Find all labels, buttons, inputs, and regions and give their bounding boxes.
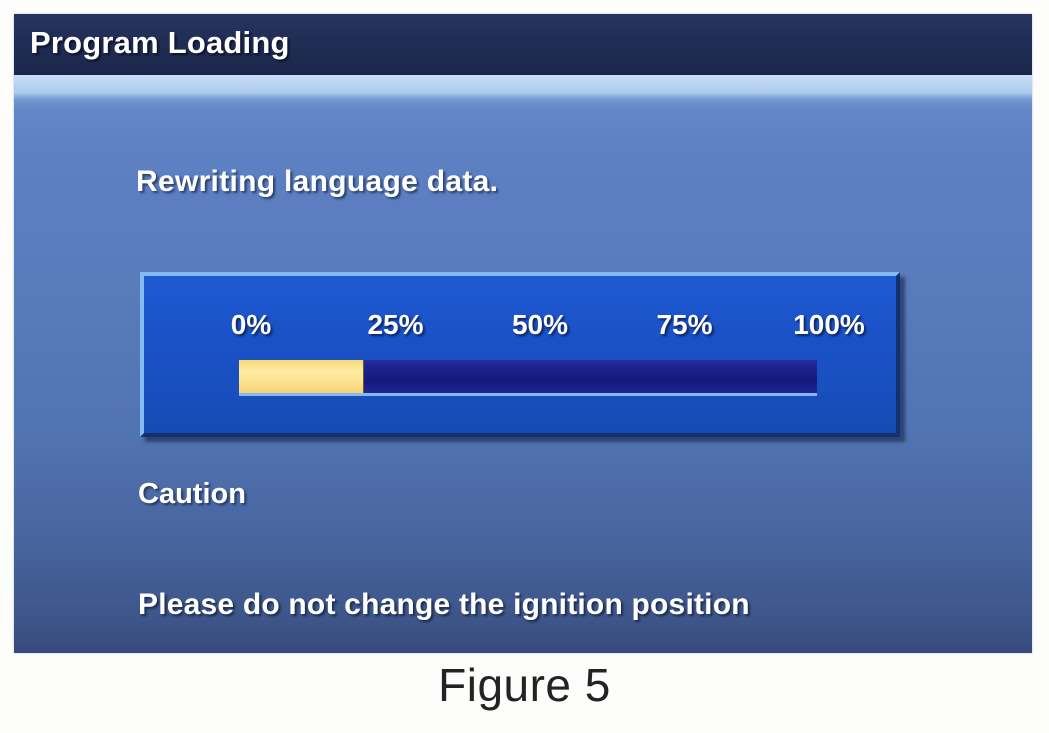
page-title: Program Loading	[30, 25, 290, 61]
progress-tick-75: 75%	[656, 309, 712, 341]
body-top-highlight	[14, 75, 1032, 97]
device-screen: Program Loading Rewriting language data.…	[14, 14, 1032, 653]
caution-message: Please do not change the ignition positi…	[138, 588, 750, 622]
progress-tick-0: 0%	[231, 309, 271, 341]
progress-panel: 0% 25% 50% 75% 100%	[140, 272, 900, 437]
figure-container: Program Loading Rewriting language data.…	[0, 0, 1049, 733]
progress-tick-row: 0% 25% 50% 75% 100%	[144, 309, 896, 349]
caution-heading: Caution	[138, 478, 246, 511]
progress-tick-25: 25%	[367, 309, 423, 341]
figure-caption: Figure 5	[0, 658, 1049, 712]
progress-bar-fill	[239, 360, 364, 393]
screen-body: Rewriting language data. 0% 25% 50% 75% …	[14, 75, 1032, 653]
status-message: Rewriting language data.	[136, 165, 498, 199]
title-bar: Program Loading	[14, 14, 1032, 75]
progress-tick-50: 50%	[512, 309, 568, 341]
progress-bar-track	[239, 360, 817, 396]
progress-tick-100: 100%	[793, 309, 865, 341]
